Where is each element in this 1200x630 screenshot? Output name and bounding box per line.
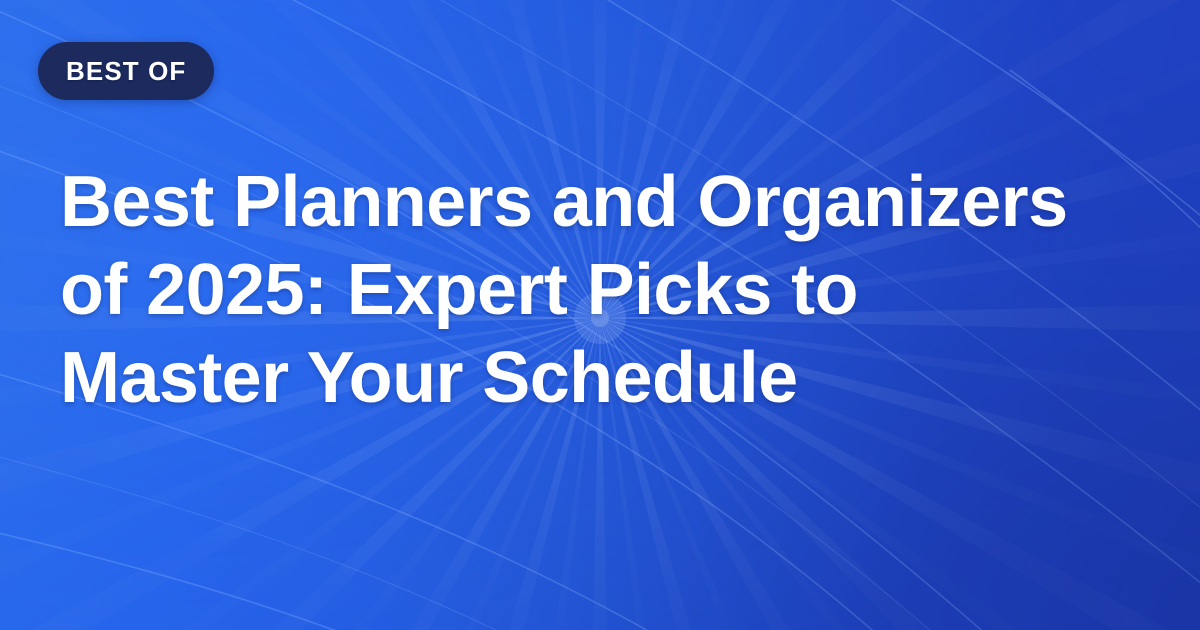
headline-line-1: Best Planners and Organizers — [60, 158, 1150, 246]
headline-line-3: Master Your Schedule — [60, 334, 1150, 422]
page-title: Best Planners and Organizers of 2025: Ex… — [60, 158, 1150, 422]
card-content: BEST OF Best Planners and Organizers of … — [0, 0, 1200, 630]
headline-line-2: of 2025: Expert Picks to — [60, 246, 1150, 334]
best-of-badge: BEST OF — [38, 42, 214, 100]
badge-label: BEST OF — [66, 58, 186, 84]
social-share-card: BEST OF Best Planners and Organizers of … — [0, 0, 1200, 630]
